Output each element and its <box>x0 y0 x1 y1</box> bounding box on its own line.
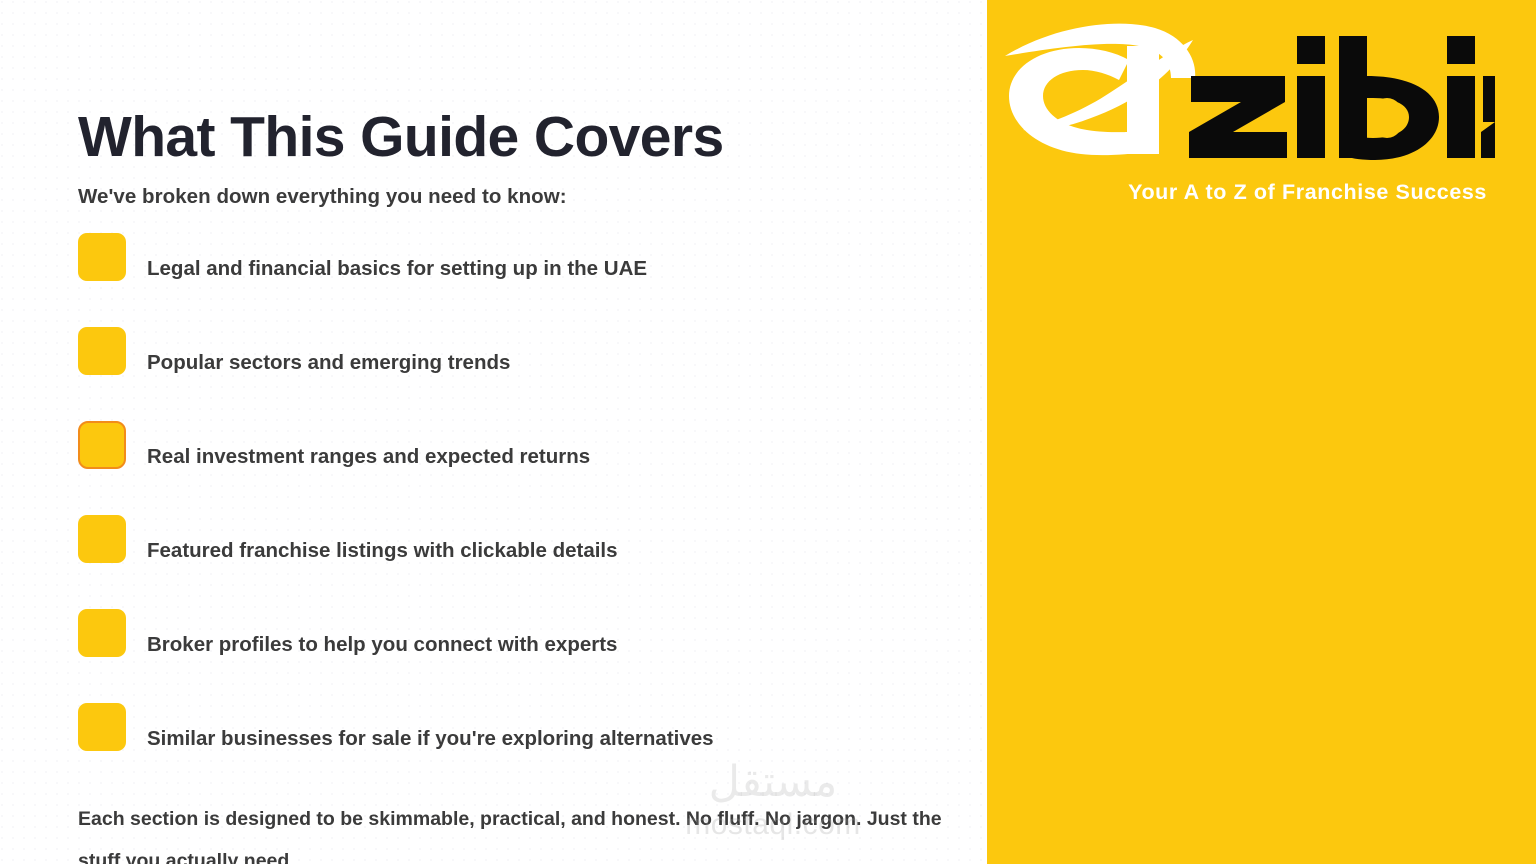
list-item-label: Broker profiles to help you connect with… <box>147 609 617 657</box>
list-item-label: Featured franchise listings with clickab… <box>147 515 618 563</box>
content-column: What This Guide Covers We've broken down… <box>0 0 985 864</box>
outro-text: Each section is designed to be skimmable… <box>78 798 978 864</box>
list-item[interactable]: Legal and financial basics for setting u… <box>78 233 958 281</box>
brand-tagline: Your A to Z of Franchise Success <box>995 180 1487 205</box>
page-title: What This Guide Covers <box>78 108 724 168</box>
list-item[interactable]: Broker profiles to help you connect with… <box>78 609 958 657</box>
checkbox-icon[interactable] <box>78 609 126 657</box>
list-item-label: Legal and financial basics for setting u… <box>147 233 647 281</box>
brand-lockup[interactable]: Your A to Z of Franchise Success <box>995 18 1495 196</box>
checkbox-icon[interactable] <box>78 515 126 563</box>
checkbox-icon[interactable] <box>78 233 126 281</box>
list-item-label: Real investment ranges and expected retu… <box>147 421 590 469</box>
checkbox-icon[interactable] <box>78 327 126 375</box>
checklist: Legal and financial basics for setting u… <box>78 233 958 797</box>
slide-canvas: What This Guide Covers We've broken down… <box>0 0 1536 864</box>
list-item[interactable]: Real investment ranges and expected retu… <box>78 421 958 469</box>
list-item[interactable]: Featured franchise listings with clickab… <box>78 515 958 563</box>
brand-panel: Your A to Z of Franchise Success <box>987 0 1536 864</box>
intro-text: We've broken down everything you need to… <box>78 185 567 209</box>
list-item-label: Popular sectors and emerging trends <box>147 327 510 375</box>
list-item[interactable]: Popular sectors and emerging trends <box>78 327 958 375</box>
azibiz-logo-icon <box>995 18 1495 168</box>
list-item-label: Similar businesses for sale if you're ex… <box>147 703 714 751</box>
list-item[interactable]: Similar businesses for sale if you're ex… <box>78 703 958 751</box>
checkbox-icon[interactable] <box>78 703 126 751</box>
checkbox-icon[interactable] <box>78 421 126 469</box>
